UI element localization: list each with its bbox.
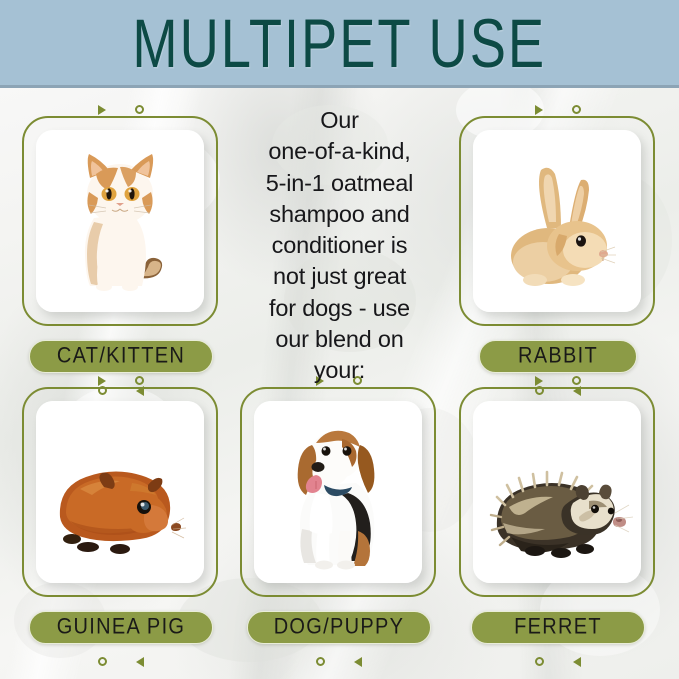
pet-label-text: DOG/PUPPY	[274, 615, 405, 641]
triangle-left-icon	[573, 657, 581, 667]
page-title: MULTIPET USE	[133, 10, 547, 78]
photo-card	[36, 130, 204, 312]
photo-card	[36, 401, 204, 583]
copy-line: our blend on	[237, 324, 442, 355]
copy-line: shampoo and	[237, 199, 442, 230]
pet-label-ferret: FERRET	[471, 611, 645, 644]
frame-accent-top	[535, 103, 581, 117]
copy-line: one-of-a-kind,	[237, 136, 442, 167]
pet-label-text: RABBIT	[518, 344, 598, 370]
circle-icon	[572, 105, 581, 114]
pet-label-guinea-pig: GUINEA PIG	[29, 611, 213, 644]
pet-label-rabbit: RABBIT	[479, 340, 637, 373]
photo-card	[254, 401, 422, 583]
guinea-pig-photo	[36, 401, 204, 583]
dog-photo	[254, 401, 422, 583]
photo-card	[473, 401, 641, 583]
circle-icon	[535, 657, 544, 666]
copy-line: your:	[237, 355, 442, 386]
pet-cell-cat[interactable]: CAT/KITTEN	[10, 110, 232, 390]
pet-label-cat: CAT/KITTEN	[29, 340, 213, 373]
pet-cell-ferret[interactable]: FERRET	[447, 381, 669, 661]
frame-accent-bottom	[535, 655, 581, 669]
multipet-use-infographic: MULTIPET USE	[0, 0, 679, 679]
cat-photo	[36, 130, 204, 312]
frame-accent-bottom	[316, 655, 362, 669]
circle-icon	[98, 657, 107, 666]
triangle-left-icon	[354, 657, 362, 667]
triangle-right-icon	[535, 105, 543, 115]
copy-line: not just great	[237, 261, 442, 292]
pet-label-text: CAT/KITTEN	[57, 344, 185, 370]
copy-line: 5-in-1 oatmeal	[237, 168, 442, 199]
pet-label-text: FERRET	[514, 615, 602, 641]
pet-cell-rabbit[interactable]: RABBIT	[447, 110, 669, 390]
pet-label-dog: DOG/PUPPY	[247, 611, 431, 644]
copy-line: Our	[237, 105, 442, 136]
rabbit-photo	[473, 130, 641, 312]
title-banner: MULTIPET USE	[0, 0, 679, 88]
triangle-right-icon	[98, 105, 106, 115]
triangle-left-icon	[136, 657, 144, 667]
ferret-photo	[473, 401, 641, 583]
pet-cell-guinea-pig[interactable]: GUINEA PIG	[10, 381, 232, 661]
pet-cell-dog[interactable]: DOG/PUPPY	[228, 381, 450, 661]
circle-icon	[135, 105, 144, 114]
frame-accent-bottom	[98, 655, 144, 669]
marketing-copy: Our one-of-a-kind, 5-in-1 oatmeal shampo…	[237, 105, 442, 386]
frame-accent-top	[98, 103, 144, 117]
circle-icon	[316, 657, 325, 666]
copy-line: for dogs - use	[237, 293, 442, 324]
pet-label-text: GUINEA PIG	[57, 615, 186, 641]
copy-line: conditioner is	[237, 230, 442, 261]
photo-card	[473, 130, 641, 312]
